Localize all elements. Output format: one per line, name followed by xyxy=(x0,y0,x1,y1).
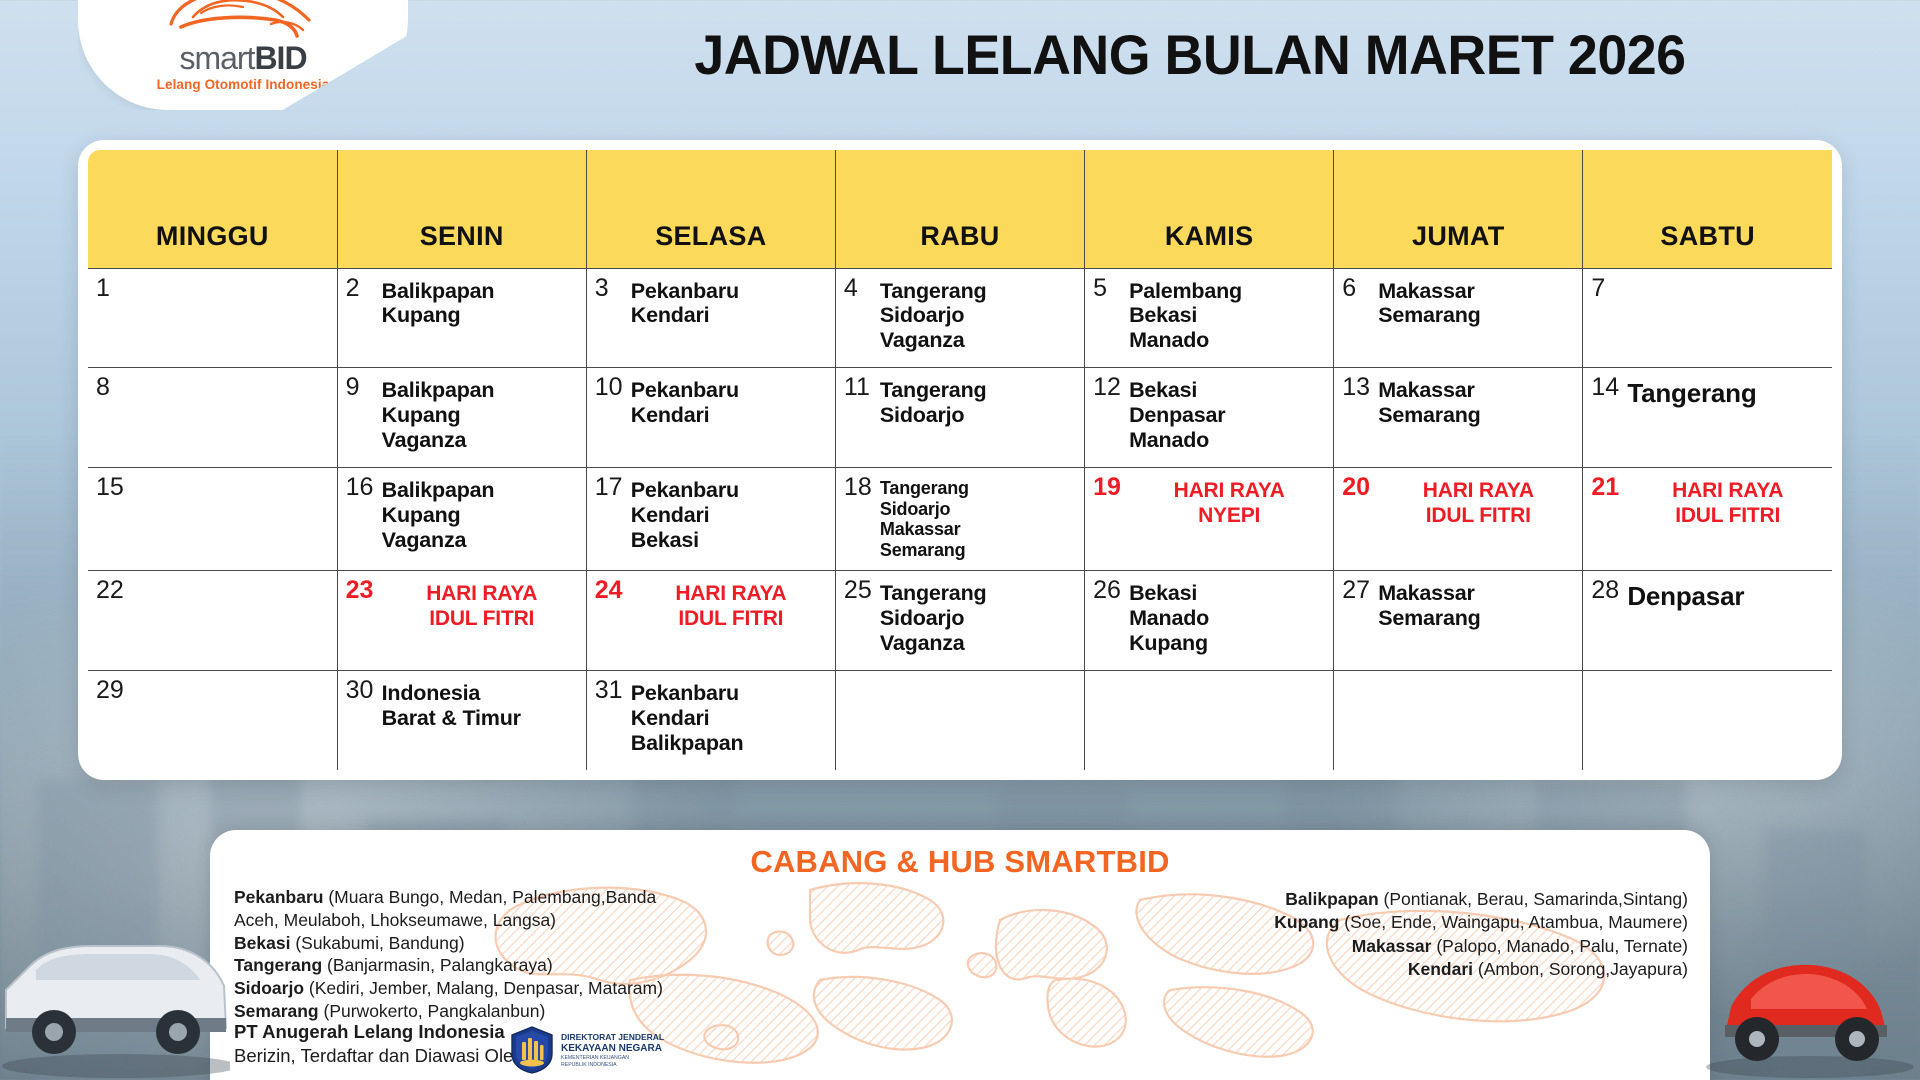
day-events: TangerangSidoarjoMakassarSemarang xyxy=(880,474,969,560)
day-number: 25 xyxy=(844,577,874,603)
calendar-cell-3[interactable]: 3PekanbaruKendari xyxy=(586,268,835,368)
calendar-cell-22[interactable]: 22 xyxy=(88,570,337,670)
branch-sub: (Sukabumi, Bandung) xyxy=(295,933,464,953)
day-number: 30 xyxy=(346,677,376,703)
day-number: 16 xyxy=(346,474,376,500)
day-events: BalikpapanKupangVaganza xyxy=(382,474,495,553)
day-number: 11 xyxy=(844,374,874,400)
day-number: 23 xyxy=(346,577,376,603)
branch-right-item: Makassar (Palopo, Manado, Palu, Ternate) xyxy=(1218,935,1688,958)
vehicle-left-image xyxy=(0,870,230,1080)
day-number: 21 xyxy=(1591,474,1621,500)
day-number: 15 xyxy=(96,474,126,500)
calendar-week-row: 2223HARI RAYAIDUL FITRI24HARI RAYAIDUL F… xyxy=(88,570,1832,670)
calendar-cell-9[interactable]: 9BalikpapanKupangVaganza xyxy=(337,368,586,468)
branch-sub: (Kediri, Jember, Malang, Denpasar, Matar… xyxy=(309,978,663,998)
branch-hub: Semarang xyxy=(234,1001,319,1021)
calendar-cell-27[interactable]: 27MakassarSemarang xyxy=(1334,570,1583,670)
calendar-cell-19[interactable]: 19HARI RAYANYEPI xyxy=(1085,468,1334,571)
day-events: Tangerang xyxy=(1627,374,1756,408)
day-events: TangerangSidoarjoVaganza xyxy=(880,577,987,656)
day-header-senin: SENIN xyxy=(337,150,586,268)
branch-right-item: Kendari (Ambon, Sorong,Jayapura) xyxy=(1218,958,1688,981)
footer-branches-left: Pekanbaru (Muara Bungo, Medan, Palembang… xyxy=(234,886,704,1023)
footer-card: CABANG & HUB SMARTBID Pekanbaru (Muara B… xyxy=(210,830,1710,1080)
calendar-cell-4[interactable]: 4TangerangSidoarjoVaganza xyxy=(835,268,1084,368)
day-events: HARI RAYAIDUL FITRI xyxy=(382,577,582,631)
branch-sub: (Ambon, Sorong,Jayapura) xyxy=(1478,959,1688,979)
day-number: 24 xyxy=(595,577,625,603)
day-events: BekasiDenpasarManado xyxy=(1129,374,1225,453)
branch-right-item: Kupang (Soe, Ende, Waingapu, Atambua, Ma… xyxy=(1218,911,1688,934)
calendar-cell-20[interactable]: 20HARI RAYAIDUL FITRI xyxy=(1334,468,1583,571)
day-events: MakassarSemarang xyxy=(1378,577,1480,631)
day-events: TangerangSidoarjoVaganza xyxy=(880,275,987,354)
calendar-week-row: 2930IndonesiaBarat & Timur31PekanbaruKen… xyxy=(88,670,1832,770)
branch-sub: (Palopo, Manado, Palu, Ternate) xyxy=(1436,936,1688,956)
footer-title: CABANG & HUB SMARTBID xyxy=(210,830,1710,880)
day-events: HARI RAYAIDUL FITRI xyxy=(1378,474,1578,528)
day-number: 9 xyxy=(346,374,376,400)
day-number: 8 xyxy=(96,374,126,400)
government-emblem-icon xyxy=(510,1026,554,1074)
day-header-selasa: SELASA xyxy=(586,150,835,268)
day-events: IndonesiaBarat & Timur xyxy=(382,677,521,731)
day-number: 22 xyxy=(96,577,126,603)
company-note: Berizin, Terdaftar dan Diawasi Oleh xyxy=(234,1044,524,1068)
day-events: PekanbaruKendariBalikpapan xyxy=(631,677,744,756)
logo-smart: smart xyxy=(179,40,254,76)
calendar-cell-24[interactable]: 24HARI RAYAIDUL FITRI xyxy=(586,570,835,670)
calendar-cell-6[interactable]: 6MakassarSemarang xyxy=(1334,268,1583,368)
branch-left-item: Pekanbaru (Muara Bungo, Medan, Palembang… xyxy=(234,886,704,932)
branch-sub: (Banjarmasin, Palangkaraya) xyxy=(327,955,553,975)
calendar-table: MINGGUSENINSELASARABUKAMISJUMATSABTU 12B… xyxy=(88,150,1832,770)
day-number: 26 xyxy=(1093,577,1123,603)
day-number: 10 xyxy=(595,374,625,400)
day-number: 13 xyxy=(1342,374,1372,400)
branch-left-item: Sidoarjo (Kediri, Jember, Malang, Denpas… xyxy=(234,977,704,1000)
calendar-cell-18[interactable]: 18TangerangSidoarjoMakassarSemarang xyxy=(835,468,1084,571)
day-number: 12 xyxy=(1093,374,1123,400)
calendar-week-row: 12BalikpapanKupang3PekanbaruKendari4Tang… xyxy=(88,268,1832,368)
day-number: 29 xyxy=(96,677,126,703)
calendar-cell-21[interactable]: 21HARI RAYAIDUL FITRI xyxy=(1583,468,1832,571)
day-events: HARI RAYAIDUL FITRI xyxy=(1627,474,1828,528)
day-number: 27 xyxy=(1342,577,1372,603)
day-number: 3 xyxy=(595,275,625,301)
day-number: 20 xyxy=(1342,474,1372,500)
calendar-cell-15[interactable]: 15 xyxy=(88,468,337,571)
calendar-cell-25[interactable]: 25TangerangSidoarjoVaganza xyxy=(835,570,1084,670)
day-events: BalikpapanKupang xyxy=(382,275,495,329)
car-outline-icon xyxy=(163,0,323,40)
calendar-cell-16[interactable]: 16BalikpapanKupangVaganza xyxy=(337,468,586,571)
day-events: MakassarSemarang xyxy=(1378,374,1480,428)
day-header-jumat: JUMAT xyxy=(1334,150,1583,268)
branch-sub: (Soe, Ende, Waingapu, Atambua, Maumere) xyxy=(1344,912,1688,932)
calendar-cell-23[interactable]: 23HARI RAYAIDUL FITRI xyxy=(337,570,586,670)
day-number: 4 xyxy=(844,275,874,301)
day-events: TangerangSidoarjo xyxy=(880,374,987,428)
calendar-cell-17[interactable]: 17PekanbaruKendariBekasi xyxy=(586,468,835,571)
calendar-cell-empty[interactable] xyxy=(1334,670,1583,770)
gov-line1: DIREKTORAT JENDERAL xyxy=(561,1032,664,1043)
day-events: PalembangBekasiManado xyxy=(1129,275,1242,354)
calendar-cell-8[interactable]: 8 xyxy=(88,368,337,468)
calendar-cell-28[interactable]: 28Denpasar xyxy=(1583,570,1832,670)
calendar-cell-empty[interactable] xyxy=(835,670,1084,770)
calendar-week-row: 89BalikpapanKupangVaganza10PekanbaruKend… xyxy=(88,368,1832,468)
day-events: Denpasar xyxy=(1627,577,1744,611)
calendar-cell-11[interactable]: 11TangerangSidoarjo xyxy=(835,368,1084,468)
day-events: HARI RAYANYEPI xyxy=(1129,474,1329,528)
day-events: MakassarSemarang xyxy=(1378,275,1480,329)
calendar-cell-14[interactable]: 14Tangerang xyxy=(1583,368,1832,468)
calendar-cell-29[interactable]: 29 xyxy=(88,670,337,770)
branch-hub: Makassar xyxy=(1352,936,1432,956)
calendar-cell-1[interactable]: 1 xyxy=(88,268,337,368)
calendar-cell-2[interactable]: 2BalikpapanKupang xyxy=(337,268,586,368)
branch-hub: Sidoarjo xyxy=(234,978,304,998)
day-number: 17 xyxy=(595,474,625,500)
logo-wordmark: smartBID xyxy=(157,42,330,74)
calendar-cell-26[interactable]: 26BekasiManadoKupang xyxy=(1085,570,1334,670)
calendar-cell-13[interactable]: 13MakassarSemarang xyxy=(1334,368,1583,468)
branch-left-item: Bekasi (Sukabumi, Bandung) xyxy=(234,932,704,955)
branch-right-item: Balikpapan (Pontianak, Berau, Samarinda,… xyxy=(1218,888,1688,911)
logo-bid: BID xyxy=(254,40,306,76)
branch-sub: (Purwokerto, Pangkalanbun) xyxy=(324,1001,546,1021)
calendar-cell-30[interactable]: 30IndonesiaBarat & Timur xyxy=(337,670,586,770)
logo-tagline: Lelang Otomotif Indonesia xyxy=(157,77,330,92)
branch-hub: Balikpapan xyxy=(1285,889,1378,909)
calendar-cell-empty[interactable] xyxy=(1085,670,1334,770)
calendar-cell-31[interactable]: 31PekanbaruKendariBalikpapan xyxy=(586,670,835,770)
footer-branches-right: Balikpapan (Pontianak, Berau, Samarinda,… xyxy=(1218,888,1688,982)
day-number: 18 xyxy=(844,474,874,500)
calendar-cell-10[interactable]: 10PekanbaruKendari xyxy=(586,368,835,468)
day-events: BalikpapanKupangVaganza xyxy=(382,374,495,453)
branch-hub: Pekanbaru xyxy=(234,887,323,907)
day-header-kamis: KAMIS xyxy=(1085,150,1334,268)
branch-hub: Tangerang xyxy=(234,955,322,975)
company-info: PT Anugerah Lelang Indonesia Berizin, Te… xyxy=(234,1020,524,1068)
branch-hub: Kupang xyxy=(1274,912,1339,932)
day-events: HARI RAYAIDUL FITRI xyxy=(631,577,831,631)
day-events: PekanbaruKendari xyxy=(631,275,739,329)
company-name: PT Anugerah Lelang Indonesia xyxy=(234,1020,524,1044)
calendar-card: MINGGUSENINSELASARABUKAMISJUMATSABTU 12B… xyxy=(78,140,1842,780)
gov-line4: REPUBLIK INDONESIA xyxy=(561,1062,664,1069)
day-number: 28 xyxy=(1591,577,1621,603)
day-events: PekanbaruKendariBekasi xyxy=(631,474,739,553)
day-number: 2 xyxy=(346,275,376,301)
gov-line2: KEKAYAAN NEGARA xyxy=(561,1043,664,1056)
branch-hub: Bekasi xyxy=(234,933,290,953)
day-number: 7 xyxy=(1591,275,1621,301)
branch-left-item: Tangerang (Banjarmasin, Palangkaraya) xyxy=(234,954,704,977)
day-number: 1 xyxy=(96,275,126,301)
day-header-minggu: MINGGU xyxy=(88,150,337,268)
calendar-header-row: MINGGUSENINSELASARABUKAMISJUMATSABTU xyxy=(88,150,1832,268)
day-number: 6 xyxy=(1342,275,1372,301)
day-number: 5 xyxy=(1093,275,1123,301)
government-logo: DIREKTORAT JENDERAL KEKAYAAN NEGARA KEME… xyxy=(510,1026,664,1074)
day-header-rabu: RABU xyxy=(835,150,1084,268)
day-number: 31 xyxy=(595,677,625,703)
calendar-cell-empty[interactable] xyxy=(1583,670,1832,770)
day-events: PekanbaruKendari xyxy=(631,374,739,428)
calendar-week-row: 1516BalikpapanKupangVaganza17PekanbaruKe… xyxy=(88,468,1832,571)
calendar-cell-7[interactable]: 7 xyxy=(1583,268,1832,368)
calendar-cell-5[interactable]: 5PalembangBekasiManado xyxy=(1085,268,1334,368)
day-header-sabtu: SABTU xyxy=(1583,150,1832,268)
motorcycle-right-image xyxy=(1705,875,1920,1080)
day-number: 19 xyxy=(1093,474,1123,500)
page-title: JADWAL LELANG BULAN MARET 2026 xyxy=(547,22,1833,87)
government-logo-text: DIREKTORAT JENDERAL KEKAYAAN NEGARA KEME… xyxy=(561,1032,664,1068)
calendar-cell-12[interactable]: 12BekasiDenpasarManado xyxy=(1085,368,1334,468)
branch-sub: (Pontianak, Berau, Samarinda,Sintang) xyxy=(1384,889,1688,909)
branch-hub: Kendari xyxy=(1408,959,1473,979)
day-number: 14 xyxy=(1591,374,1621,400)
day-events: BekasiManadoKupang xyxy=(1129,577,1209,656)
